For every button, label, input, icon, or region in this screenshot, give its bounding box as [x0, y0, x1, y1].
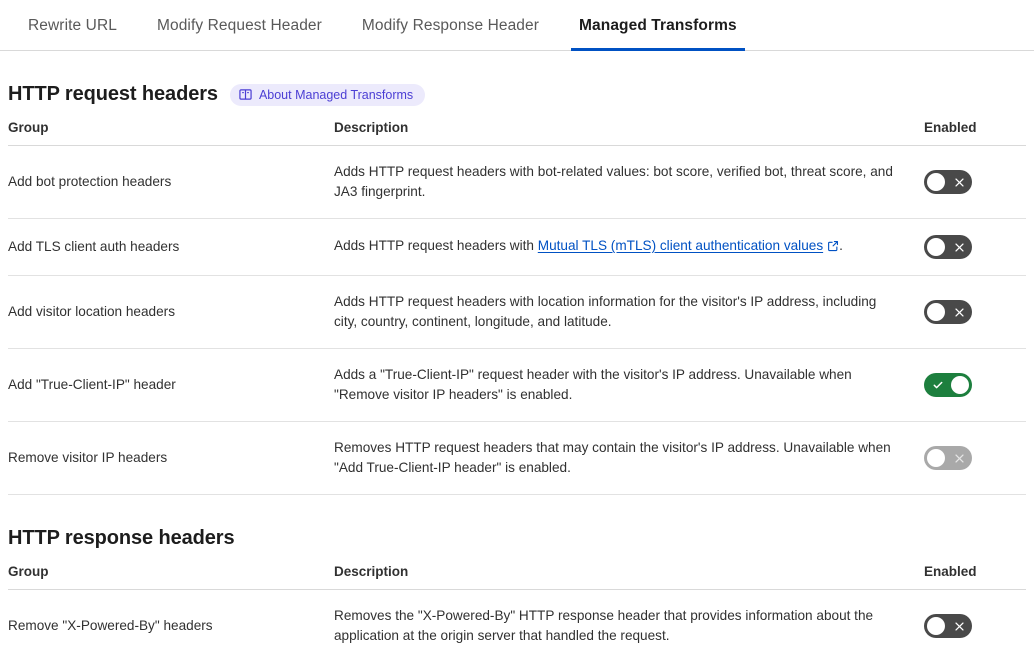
close-icon [954, 235, 965, 259]
toggle-knob [927, 303, 945, 321]
column-header-description: Description [320, 564, 918, 590]
toggle-knob [927, 173, 945, 191]
section-http-request-headers: HTTP request headers About Managed Trans… [0, 51, 1034, 495]
toggle-add-true-client-ip-header[interactable] [924, 373, 972, 397]
about-managed-transforms-badge[interactable]: About Managed Transforms [230, 84, 425, 106]
table-header-row: Group Description Enabled [8, 564, 1026, 590]
toggle-knob [927, 617, 945, 635]
tab-modify-response-header[interactable]: Modify Response Header [342, 0, 559, 51]
close-icon [954, 170, 965, 194]
row-group-label: Add visitor location headers [8, 276, 320, 349]
section-header: HTTP request headers About Managed Trans… [8, 51, 1026, 120]
row-description: Adds a "True-Client-IP" request header w… [320, 349, 918, 422]
toggle-remove-visitor-ip-headers [924, 446, 972, 470]
row-description-suffix: . [839, 238, 843, 253]
tab-modify-request-header[interactable]: Modify Request Header [137, 0, 342, 51]
table-header-row: Group Description Enabled [8, 120, 1026, 146]
toggle-add-visitor-location-headers[interactable] [924, 300, 972, 324]
response-headers-table: Group Description Enabled Remove "X-Powe… [8, 564, 1026, 653]
row-group-label: Remove visitor IP headers [8, 422, 320, 495]
table-row: Remove "X-Powered-By" headers Removes th… [8, 590, 1026, 653]
section-http-response-headers: HTTP response headers Group Description … [0, 495, 1034, 653]
row-group-label: Remove "X-Powered-By" headers [8, 590, 320, 653]
close-icon [954, 614, 965, 638]
tab-rewrite-url[interactable]: Rewrite URL [8, 0, 137, 51]
external-link-icon [827, 238, 839, 258]
row-enabled-cell [918, 219, 1026, 276]
toggle-add-tls-client-auth-headers[interactable] [924, 235, 972, 259]
table-row: Add TLS client auth headers Adds HTTP re… [8, 219, 1026, 276]
mtls-client-auth-link-label: Mutual TLS (mTLS) client authentication … [538, 238, 823, 253]
row-group-label: Add "True-Client-IP" header [8, 349, 320, 422]
close-icon [954, 446, 965, 470]
row-description: Removes HTTP request headers that may co… [320, 422, 918, 495]
close-icon [954, 300, 965, 324]
column-header-group: Group [8, 120, 320, 146]
row-group-label: Add TLS client auth headers [8, 219, 320, 276]
row-enabled-cell [918, 349, 1026, 422]
column-header-enabled: Enabled [918, 120, 1026, 146]
row-enabled-cell [918, 422, 1026, 495]
request-headers-table: Group Description Enabled Add bot protec… [8, 120, 1026, 495]
toggle-knob [927, 238, 945, 256]
mtls-client-auth-link[interactable]: Mutual TLS (mTLS) client authentication … [538, 238, 823, 253]
column-header-description: Description [320, 120, 918, 146]
table-row: Remove visitor IP headers Removes HTTP r… [8, 422, 1026, 495]
toggle-remove-x-powered-by-headers[interactable] [924, 614, 972, 638]
row-description: Removes the "X-Powered-By" HTTP response… [320, 590, 918, 653]
table-row: Add "True-Client-IP" header Adds a "True… [8, 349, 1026, 422]
row-enabled-cell [918, 590, 1026, 653]
table-row: Add bot protection headers Adds HTTP req… [8, 146, 1026, 219]
toggle-knob [927, 449, 945, 467]
about-managed-transforms-label: About Managed Transforms [259, 88, 413, 102]
tab-bar: Rewrite URL Modify Request Header Modify… [0, 0, 1034, 51]
toggle-knob [951, 376, 969, 394]
row-description: Adds HTTP request headers with Mutual TL… [320, 219, 918, 276]
column-header-enabled: Enabled [918, 564, 1026, 590]
table-row: Add visitor location headers Adds HTTP r… [8, 276, 1026, 349]
row-enabled-cell [918, 276, 1026, 349]
row-description: Adds HTTP request headers with location … [320, 276, 918, 349]
book-icon [239, 88, 252, 101]
row-description: Adds HTTP request headers with bot-relat… [320, 146, 918, 219]
toggle-add-bot-protection-headers[interactable] [924, 170, 972, 194]
row-description-prefix: Adds HTTP request headers with [334, 238, 538, 253]
column-header-group: Group [8, 564, 320, 590]
section-header: HTTP response headers [8, 495, 1026, 564]
row-group-label: Add bot protection headers [8, 146, 320, 219]
row-enabled-cell [918, 146, 1026, 219]
page-title-response-headers: HTTP response headers [8, 527, 235, 550]
check-icon [932, 373, 944, 397]
tab-managed-transforms[interactable]: Managed Transforms [559, 0, 757, 51]
page-title-request-headers: HTTP request headers [8, 83, 218, 106]
